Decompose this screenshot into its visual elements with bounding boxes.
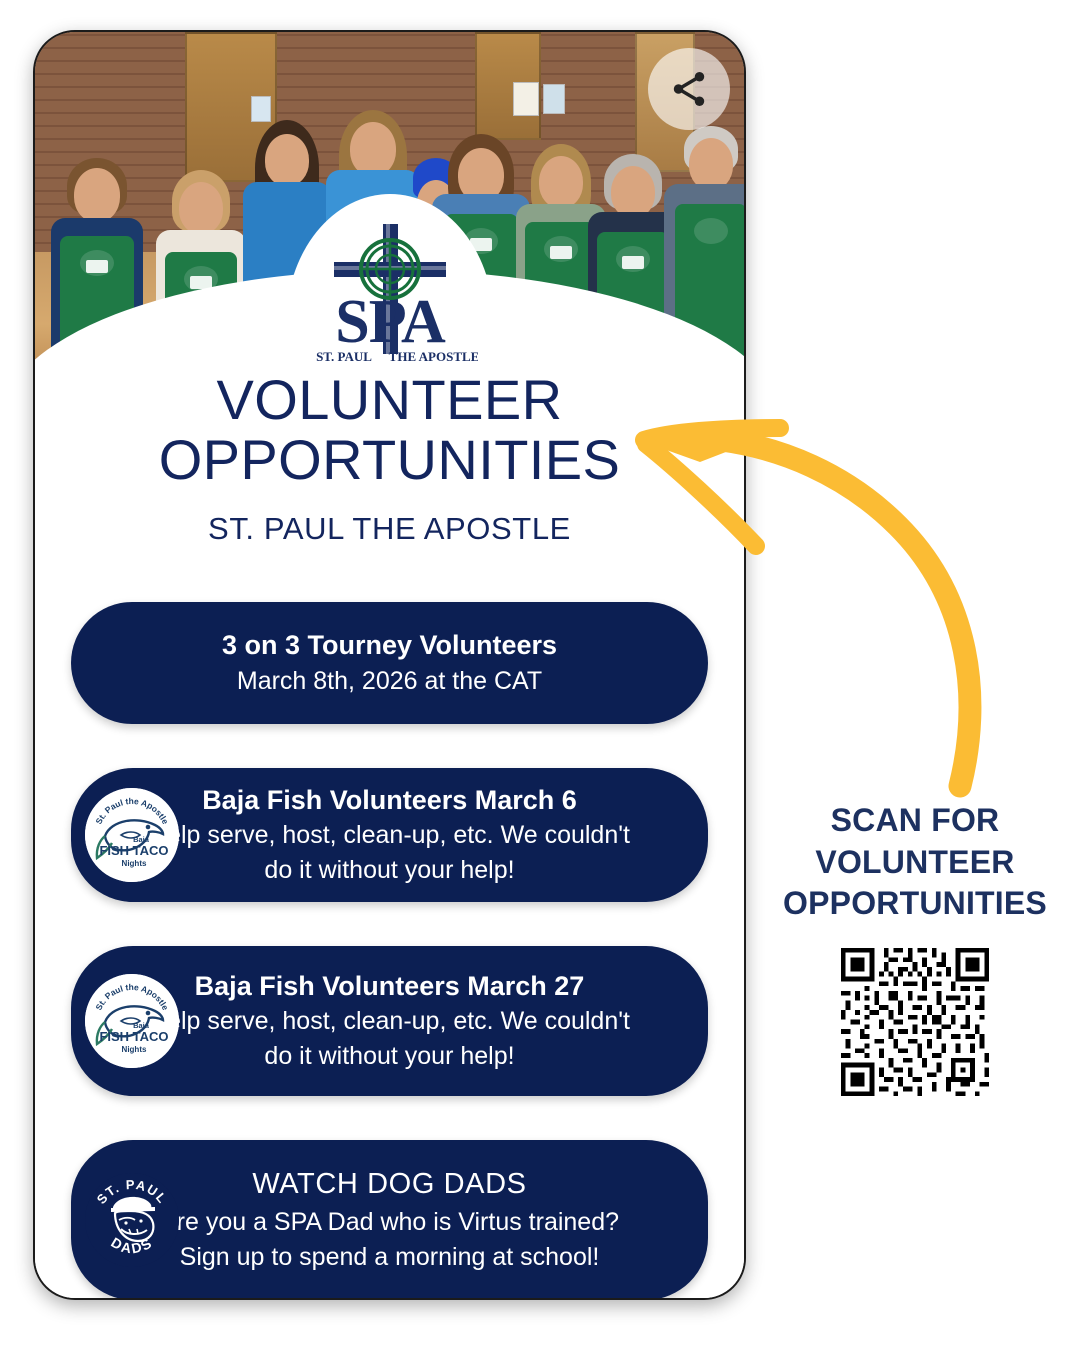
- link-subtitle-line-2: do it without your help!: [105, 1040, 674, 1073]
- share-icon: [668, 68, 710, 110]
- arrow-shaft: [722, 440, 970, 786]
- qr-code[interactable]: [836, 943, 994, 1101]
- spa-logo-left-words: ST. PAUL: [316, 349, 372, 364]
- scan-callout: SCAN FOR VOLUNTEER OPPORTUNITIES: [762, 800, 1068, 1101]
- wall-poster: [543, 84, 565, 114]
- spa-logo: SPA ST. PAUL THE APOSTLE: [302, 218, 478, 368]
- svg-text:Nights: Nights: [122, 859, 147, 868]
- page-title-line-2: OPPORTUNITIES: [35, 430, 744, 490]
- st-paul-dads-logo: ST. PAUL DADS: [85, 1173, 179, 1267]
- scan-line-2: VOLUNTEER: [762, 842, 1068, 884]
- link-title: WATCH DOG DADS: [105, 1166, 674, 1203]
- link-title: Baja Fish Volunteers March 27: [105, 969, 674, 1004]
- link-title: 3 on 3 Tourney Volunteers: [105, 628, 674, 663]
- baja-fish-taco-logo: St. Paul the Apostle Baja FISH TACO Nigh…: [85, 974, 179, 1068]
- svg-text:FISH TACO: FISH TACO: [99, 1029, 168, 1044]
- link-subtitle-line-2: do it without your help!: [105, 854, 674, 887]
- scan-line-3: OPPORTUNITIES: [762, 883, 1068, 925]
- svg-text:FISH TACO: FISH TACO: [99, 843, 168, 858]
- spa-logo-right-words: THE APOSTLE: [388, 349, 477, 364]
- wall-poster: [251, 96, 271, 122]
- link-list: 3 on 3 Tourney Volunteers March 8th, 202…: [71, 602, 708, 1300]
- share-button[interactable]: [648, 48, 730, 130]
- title-block: VOLUNTEER OPPORTUNITIES ST. PAUL THE APO…: [35, 370, 744, 547]
- link-subtitle-line-1: Help serve, host, clean-up, etc. We coul…: [105, 1005, 674, 1038]
- page-title: VOLUNTEER OPPORTUNITIES: [35, 370, 744, 491]
- scan-heading: SCAN FOR VOLUNTEER OPPORTUNITIES: [762, 800, 1068, 925]
- page-title-line-1: VOLUNTEER: [35, 370, 744, 430]
- link-in-bio-card: SPA ST. PAUL THE APOSTLE VOLUNTEER OPPOR…: [33, 30, 746, 1300]
- svg-text:Nights: Nights: [122, 1045, 147, 1054]
- link-item-watch-dog-dads[interactable]: ST. PAUL DADS: [71, 1140, 708, 1300]
- link-subtitle-line-1: Are you a SPA Dad who is Virtus trained?: [105, 1206, 674, 1239]
- scan-line-1: SCAN FOR: [762, 800, 1068, 842]
- baja-fish-taco-logo: St. Paul the Apostle Baja FISH TACO Nigh…: [85, 788, 179, 882]
- link-subtitle-line-2: Sign up to spend a morning at school!: [105, 1241, 674, 1274]
- link-item-baja-fish-march-27[interactable]: St. Paul the Apostle Baja FISH TACO Nigh…: [71, 946, 708, 1096]
- page-subtitle: ST. PAUL THE APOSTLE: [35, 511, 744, 547]
- link-subtitle: March 8th, 2026 at the CAT: [105, 665, 674, 698]
- wall-poster: [513, 82, 539, 116]
- svg-text:SPA: SPA: [335, 288, 446, 356]
- link-title: Baja Fish Volunteers March 6: [105, 783, 674, 818]
- poster-canvas: SPA ST. PAUL THE APOSTLE VOLUNTEER OPPOR…: [0, 0, 1080, 1350]
- link-item-baja-fish-march-6[interactable]: St. Paul the Apostle Baja FISH TACO Nigh…: [71, 768, 708, 902]
- link-item-three-on-three-tourney[interactable]: 3 on 3 Tourney Volunteers March 8th, 202…: [71, 602, 708, 724]
- link-subtitle-line-1: Help serve, host, clean-up, etc. We coul…: [105, 819, 674, 852]
